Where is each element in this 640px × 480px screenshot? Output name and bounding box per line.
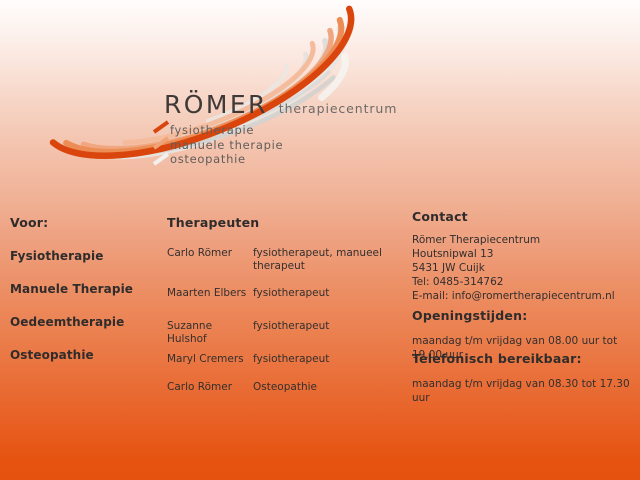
therapist-role: fysiotherapeut, manueel therapeut xyxy=(253,247,397,273)
contact-street: Houtsnipwal 13 xyxy=(412,247,636,261)
contact-heading: Contact xyxy=(412,209,636,224)
contact-company: Römer Therapiecentrum xyxy=(412,233,636,247)
tagline-1: fysiotherapie xyxy=(170,123,283,138)
therapist-name: Maryl Cremers xyxy=(167,353,253,366)
therapist-role: fysiotherapeut xyxy=(253,287,397,300)
therapist-row: Carlo Römer Osteopathie xyxy=(167,381,397,394)
therapist-row: Maryl Cremers fysiotherapeut xyxy=(167,353,397,366)
therapist-role: fysiotherapeut xyxy=(253,353,397,366)
voor-heading: Voor: xyxy=(10,215,48,230)
tagline-dashes-icon xyxy=(152,120,172,176)
openingstijden-heading: Openingstijden: xyxy=(412,308,636,323)
therapist-row: Suzanne Hulshof fysiotherapeut xyxy=(167,320,397,346)
therapist-name: Carlo Römer xyxy=(167,247,253,273)
tagline-2: manuele therapie xyxy=(170,138,283,153)
voor-item-manuele-therapie[interactable]: Manuele Therapie xyxy=(10,282,133,296)
telefonisch-bereikbaar-block: Telefonisch bereikbaar: maandag t/m vrij… xyxy=(412,351,636,405)
brand-subtitle: therapiecentrum xyxy=(279,103,398,116)
therapeuten-heading: Therapeuten xyxy=(167,215,259,230)
telefonisch-body: maandag t/m vrijdag van 08.30 tot 17.30 … xyxy=(412,377,636,405)
therapist-name: Carlo Römer xyxy=(167,381,253,394)
voor-item-osteopathie[interactable]: Osteopathie xyxy=(10,348,94,362)
therapist-row: Carlo Römer fysiotherapeut, manueel ther… xyxy=(167,247,397,273)
therapist-row: Maarten Elbers fysiotherapeut xyxy=(167,287,397,300)
brand-name: RÖMER xyxy=(164,92,268,117)
contact-email[interactable]: E-mail: info@romertherapiecentrum.nl xyxy=(412,289,636,303)
logo-taglines: fysiotherapie manuele therapie osteopath… xyxy=(170,123,283,167)
tagline-3: osteopathie xyxy=(170,152,283,167)
voor-item-oedeemtherapie[interactable]: Oedeemtherapie xyxy=(10,315,124,329)
voor-item-fysiotherapie[interactable]: Fysiotherapie xyxy=(10,249,103,263)
contact-city: 5431 JW Cuijk xyxy=(412,261,636,275)
therapist-role: fysiotherapeut xyxy=(253,320,397,346)
telefonisch-heading: Telefonisch bereikbaar: xyxy=(412,351,636,366)
therapist-name: Maarten Elbers xyxy=(167,287,253,300)
therapist-name: Suzanne Hulshof xyxy=(167,320,253,346)
contact-column: Contact Römer Therapiecentrum Houtsnipwa… xyxy=(412,209,636,303)
contact-phone[interactable]: Tel: 0485-314762 xyxy=(412,275,636,289)
therapist-role: Osteopathie xyxy=(253,381,397,394)
brand-line: RÖMER therapiecentrum xyxy=(164,92,424,117)
page-root: RÖMER therapiecentrum fysiotherapie manu… xyxy=(0,0,640,480)
